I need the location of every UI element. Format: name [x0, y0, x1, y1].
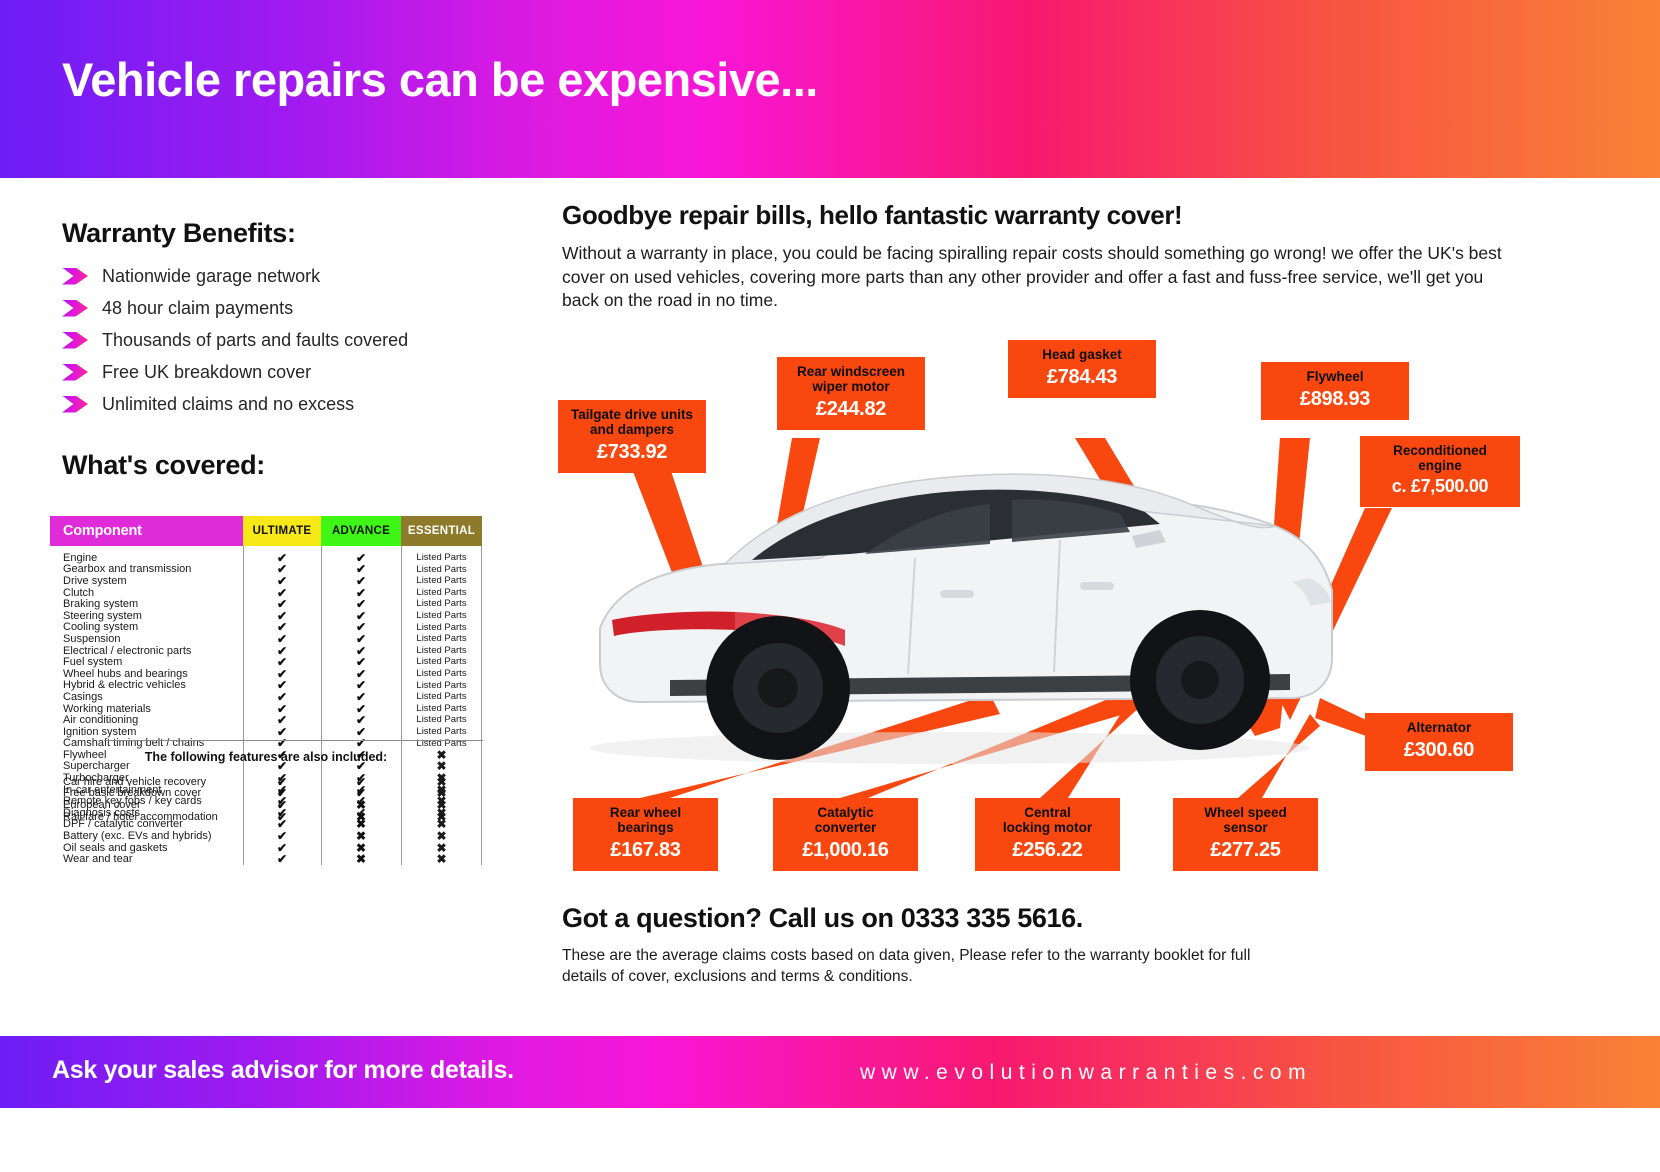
table-row: Electrical / electronic parts✔✔Listed Pa…	[50, 645, 482, 657]
cell-essential: Listed Parts	[401, 553, 482, 563]
cell-component: Rail fare / hotel accommodation	[50, 811, 243, 823]
table-row: Working materials✔✔Listed Parts	[50, 703, 482, 715]
also-included-table-body: Car hire and vehicle recovery✔✔✖Free bas…	[50, 774, 482, 822]
cell-essential: ✖	[401, 853, 482, 865]
cell-component: Cooling system	[50, 621, 243, 633]
cell-component: Steering system	[50, 610, 243, 622]
table-row: Braking system✔✔Listed Parts	[50, 598, 482, 610]
cell-component: Drive system	[50, 575, 243, 587]
callout-reconditioned-engine: Reconditionedengine c. £7,500.00	[1360, 436, 1520, 507]
cell-component: Clutch	[50, 587, 243, 599]
column-header-ultimate: ULTIMATE	[243, 516, 321, 546]
cell-component: Wheel hubs and bearings	[50, 668, 243, 680]
callout-amount: £277.25	[1185, 838, 1306, 862]
cell-essential: Listed Parts	[401, 588, 482, 598]
table-row: Casings✔✔Listed Parts	[50, 691, 482, 703]
callout-head-gasket: Head gasket £784.43	[1008, 340, 1156, 398]
callout-wheel-speed-sensor: Wheel speedsensor £277.25	[1173, 798, 1318, 871]
callout-label: Centrallocking motor	[987, 805, 1108, 835]
benefit-label: 48 hour claim payments	[102, 298, 293, 319]
benefit-item: Free UK breakdown cover	[62, 356, 502, 388]
footer-website: www.evolutionwarranties.com	[860, 1061, 1312, 1085]
cell-advance: ✖	[321, 853, 401, 865]
callout-amount: c. £7,500.00	[1372, 476, 1508, 498]
warranty-benefits-title: Warranty Benefits:	[62, 218, 296, 249]
table-row: Air conditioning✔✔Listed Parts	[50, 714, 482, 726]
benefit-item: Nationwide garage network	[62, 260, 502, 292]
cell-essential: Listed Parts	[401, 565, 482, 575]
table-row: Battery (exc. EVs and hybrids)✔✖✖	[50, 830, 482, 842]
callout-amount: £167.83	[585, 838, 706, 862]
coverage-table-header: Component ULTIMATE ADVANCE ESSENTIAL	[50, 516, 482, 546]
table-row: Car hire and vehicle recovery✔✔✖	[50, 776, 482, 788]
callout-amount: £300.60	[1377, 738, 1501, 762]
cell-essential: ✖	[401, 811, 482, 823]
benefit-label: Thousands of parts and faults covered	[102, 330, 408, 351]
benefit-label: Free UK breakdown cover	[102, 362, 311, 383]
cell-essential: Listed Parts	[401, 623, 482, 633]
benefit-label: Unlimited claims and no excess	[102, 394, 354, 415]
cell-essential: Listed Parts	[401, 634, 482, 644]
cell-component: Fuel system	[50, 656, 243, 668]
cell-component: Air conditioning	[50, 714, 243, 726]
cell-essential: Listed Parts	[401, 681, 482, 691]
cell-component: Braking system	[50, 598, 243, 610]
cta-note: These are the average claims costs based…	[562, 946, 1262, 988]
chevron-right-icon	[62, 300, 88, 317]
callout-amount: £898.93	[1273, 387, 1397, 411]
column-header-advance: ADVANCE	[321, 516, 401, 546]
callout-amount: £256.22	[987, 838, 1108, 862]
callout-amount: £1,000.16	[785, 838, 906, 862]
callout-alternator: Alternator £300.60	[1365, 713, 1513, 771]
table-row: Cooling system✔✔Listed Parts	[50, 622, 482, 634]
cell-essential: Listed Parts	[401, 599, 482, 609]
cell-component: Electrical / electronic parts	[50, 645, 243, 657]
cta-heading: Got a question? Call us on 0333 335 5616…	[562, 903, 1083, 934]
cell-essential: Listed Parts	[401, 692, 482, 702]
callout-central-locking-motor: Centrallocking motor £256.22	[975, 798, 1120, 871]
cell-essential: Listed Parts	[401, 576, 482, 586]
cell-essential: Listed Parts	[401, 657, 482, 667]
cell-essential: Listed Parts	[401, 704, 482, 714]
callout-tailgate: Tailgate drive unitsand dampers £733.92	[558, 400, 706, 473]
table-row: Rail fare / hotel accommodation✔✖✖	[50, 811, 482, 823]
right-heading: Goodbye repair bills, hello fantastic wa…	[562, 200, 1182, 231]
footer-tagline: Ask your sales advisor for more details.	[52, 1056, 514, 1085]
table-row: Wear and tear✔✖✖	[50, 853, 482, 865]
table-row: Oil seals and gaskets✔✖✖	[50, 842, 482, 854]
cell-component: Hybrid & electric vehicles	[50, 679, 243, 691]
callout-label: Reconditionedengine	[1372, 443, 1508, 473]
table-row: Engine✔✔Listed Parts	[50, 552, 482, 564]
column-header-component: Component	[50, 516, 243, 546]
callout-amount: £244.82	[789, 397, 913, 421]
callout-label: Head gasket	[1020, 347, 1144, 362]
callout-label: Rear windscreenwiper motor	[789, 364, 913, 394]
table-divider	[105, 740, 483, 741]
callout-label: Rear wheelbearings	[585, 805, 706, 835]
table-row: Wheel hubs and bearings✔✔Listed Parts	[50, 668, 482, 680]
cell-ultimate: ✔	[243, 811, 321, 823]
left-column: Warranty Benefits: Nationwide garage net…	[0, 178, 520, 1030]
page-header: Vehicle repairs can be expensive...	[0, 0, 1660, 178]
callout-rear-wheel-bearings: Rear wheelbearings £167.83	[573, 798, 718, 871]
cell-essential: Listed Parts	[401, 611, 482, 621]
cell-component: Oil seals and gaskets	[50, 842, 243, 854]
also-included-title: The following features are also included…	[50, 750, 482, 764]
table-row: Drive system✔✔Listed Parts	[50, 575, 482, 587]
callout-label: Tailgate drive unitsand dampers	[570, 407, 694, 437]
cell-component: Battery (exc. EVs and hybrids)	[50, 830, 243, 842]
table-row: European cover✔✖✖	[50, 799, 482, 811]
cell-component: Car hire and vehicle recovery	[50, 776, 243, 788]
callout-label: Flywheel	[1273, 369, 1397, 384]
also-included-table: Car hire and vehicle recovery✔✔✖Free bas…	[50, 774, 482, 822]
right-paragraph: Without a warranty in place, you could b…	[562, 242, 1522, 313]
cell-component: Suspension	[50, 633, 243, 645]
benefit-item: Thousands of parts and faults covered	[62, 324, 502, 356]
cell-component: Engine	[50, 552, 243, 564]
callout-label: Catalyticconverter	[785, 805, 906, 835]
table-row: Fuel system✔✔Listed Parts	[50, 656, 482, 668]
warranty-benefits-list: Nationwide garage network48 hour claim p…	[62, 260, 502, 420]
table-row: Steering system✔✔Listed Parts	[50, 610, 482, 622]
table-row: Ignition system✔✔Listed Parts	[50, 726, 482, 738]
chevron-right-icon	[62, 364, 88, 381]
page-title: Vehicle repairs can be expensive...	[62, 52, 818, 107]
benefit-item: Unlimited claims and no excess	[62, 388, 502, 420]
cell-component: Wear and tear	[50, 853, 243, 865]
callout-label: Wheel speedsensor	[1185, 805, 1306, 835]
cell-advance: ✖	[321, 811, 401, 823]
cell-component: Gearbox and transmission	[50, 563, 243, 575]
chevron-right-icon	[62, 268, 88, 285]
benefit-label: Nationwide garage network	[102, 266, 320, 287]
benefit-item: 48 hour claim payments	[62, 292, 502, 324]
callout-amount: £733.92	[570, 440, 694, 464]
table-row: Suspension✔✔Listed Parts	[50, 633, 482, 645]
vehicle-diagram: Tailgate drive unitsand dampers £733.92 …	[520, 328, 1660, 888]
table-row: Free basic breakdown cover✔✔✖	[50, 788, 482, 800]
callout-rear-windscreen-wiper-motor: Rear windscreenwiper motor £244.82	[777, 357, 925, 430]
callout-label: Alternator	[1377, 720, 1501, 735]
callout-catalytic-converter: Catalyticconverter £1,000.16	[773, 798, 918, 871]
table-row: Gearbox and transmission✔✔Listed Parts	[50, 564, 482, 576]
cell-component: Casings	[50, 691, 243, 703]
cell-essential: Listed Parts	[401, 727, 482, 737]
whats-covered-title: What's covered:	[62, 450, 265, 481]
cell-essential: Listed Parts	[401, 669, 482, 679]
cell-component: European cover	[50, 799, 243, 811]
table-row: Hybrid & electric vehicles✔✔Listed Parts	[50, 680, 482, 692]
cell-component: Ignition system	[50, 726, 243, 738]
column-header-essential: ESSENTIAL	[401, 516, 482, 546]
chevron-right-icon	[62, 332, 88, 349]
chevron-right-icon	[62, 396, 88, 413]
right-column: Goodbye repair bills, hello fantastic wa…	[520, 178, 1660, 1030]
callout-flywheel: Flywheel £898.93	[1261, 362, 1409, 420]
page-footer: Ask your sales advisor for more details.…	[0, 1036, 1660, 1108]
table-row: Clutch✔✔Listed Parts	[50, 587, 482, 599]
cell-component: Working materials	[50, 703, 243, 715]
cell-ultimate: ✔	[243, 853, 321, 865]
cell-essential: Listed Parts	[401, 646, 482, 656]
cell-component: Free basic breakdown cover	[50, 787, 243, 799]
callout-amount: £784.43	[1020, 365, 1144, 389]
cell-essential: Listed Parts	[401, 715, 482, 725]
